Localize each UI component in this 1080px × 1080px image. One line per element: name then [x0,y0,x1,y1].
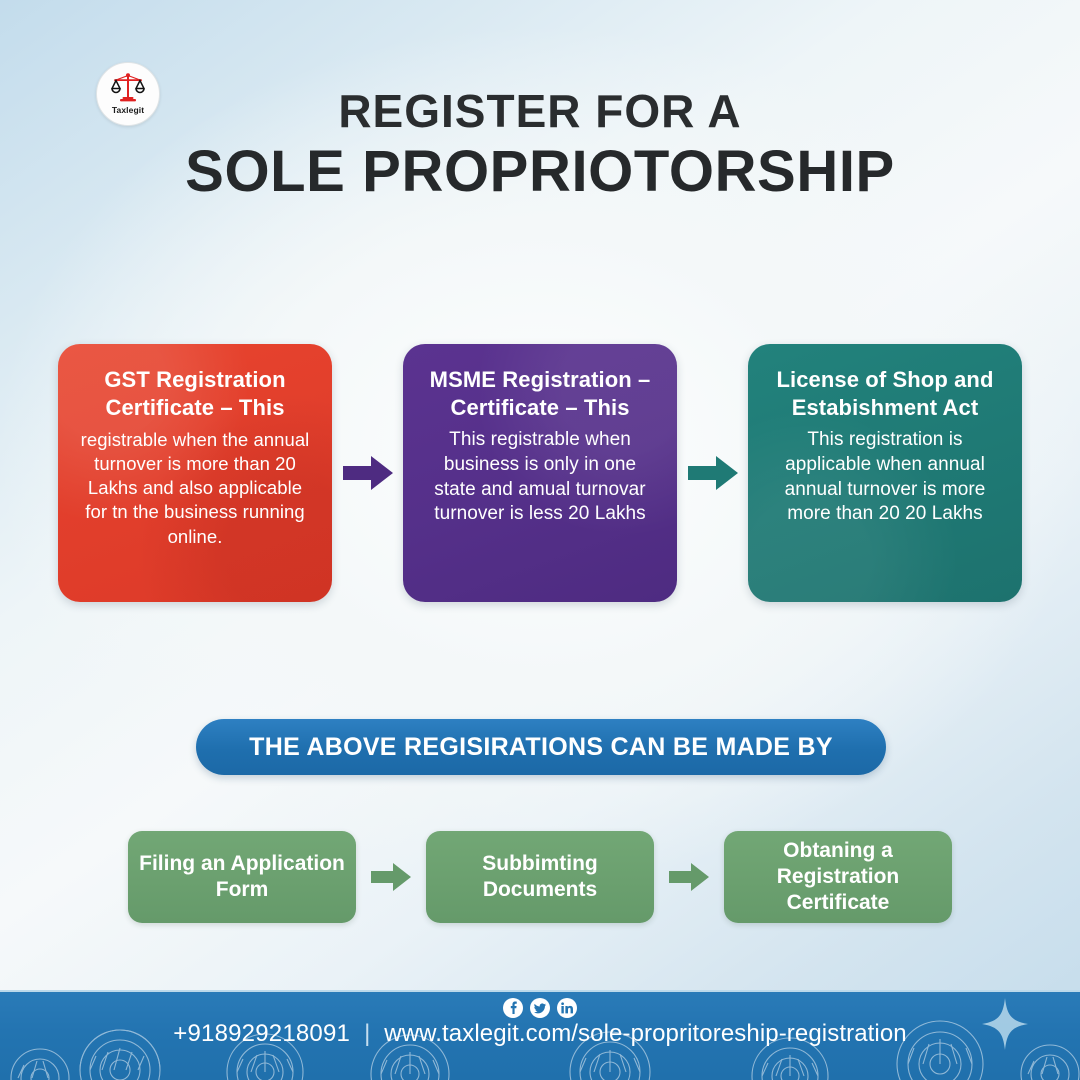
step-obtaining-certificate[interactable]: Obtaning a Registration Certificate [724,831,952,923]
card-body: registrable when the annual turnover is … [72,428,318,548]
registration-card-gst[interactable]: GST Registration Certificate – This regi… [58,344,332,602]
title-line-1: REGISTER FOR A [0,88,1080,134]
linkedin-icon[interactable] [557,998,577,1018]
arrow-right-icon [343,454,393,492]
card-heading: MSME Registration – Certificate – This [417,366,663,422]
card-body: This registration is applicable when ann… [762,428,1008,527]
footer-contact-line: +918929218091 | www.taxlegit.com/sole-pr… [0,1020,1080,1048]
process-steps-row: Filing an Application Form Subbimting Do… [128,831,952,923]
footer-separator: | [364,1020,370,1048]
social-links [0,998,1080,1018]
banner-text: THE ABOVE REGISIRATIONS CAN BE MADE BY [249,733,833,762]
registration-cards-row: GST Registration Certificate – This regi… [58,344,1022,602]
arrow-right-icon [688,454,738,492]
step-label: Obtaning a Registration Certificate [724,838,952,917]
card-heading: GST Registration Certificate – This [72,366,318,422]
card-heading: License of Shop and Estabishment Act [762,366,1008,422]
step-filing-application[interactable]: Filing an Application Form [128,831,356,923]
twitter-icon[interactable] [530,998,550,1018]
step-arrow-2-wrap [654,862,724,892]
step-arrow-1-wrap [356,862,426,892]
arrow-right-icon [371,862,411,892]
card-arrow-1-wrap [332,454,403,492]
step-label: Filing an Application Form [128,851,356,904]
registration-card-msme[interactable]: MSME Registration – Certificate – This T… [403,344,677,602]
card-arrow-2-wrap [677,454,748,492]
facebook-icon[interactable] [503,998,523,1018]
page-title: REGISTER FOR A SOLE PROPRIOTORSHIP [0,88,1080,206]
footer-url[interactable]: www.taxlegit.com/sole-propritoreship-reg… [384,1020,906,1048]
title-line-2: SOLE PROPRIOTORSHIP [0,138,1080,206]
registration-card-shop-establishment[interactable]: License of Shop and Estabishment Act Thi… [748,344,1022,602]
arrow-right-icon [669,862,709,892]
card-body: This registrable when business is only i… [417,428,663,527]
footer-bar: +918929218091 | www.taxlegit.com/sole-pr… [0,990,1080,1080]
footer-phone[interactable]: +918929218091 [173,1020,350,1048]
banner-above-registrations: THE ABOVE REGISIRATIONS CAN BE MADE BY [196,719,886,775]
step-submitting-documents[interactable]: Subbimting Documents [426,831,654,923]
step-label: Subbimting Documents [426,851,654,904]
